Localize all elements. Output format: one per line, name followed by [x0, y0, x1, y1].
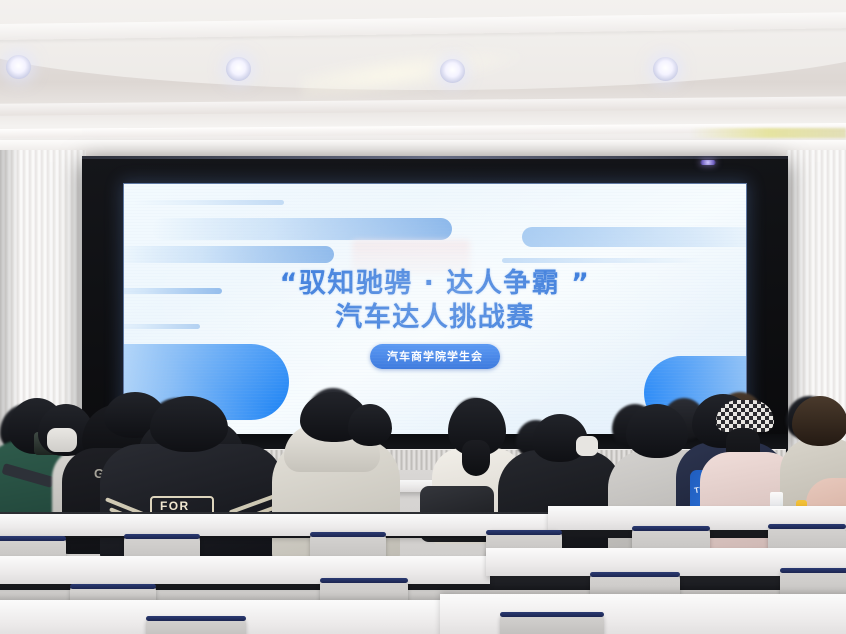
chair-trim [486, 530, 562, 535]
lecture-hall-photo: “驭知驰骋 · 达人争霸 ” 汽车达人挑战赛 汽车商学院学生会 组名 组名 组名… [0, 0, 846, 634]
chair-trim [310, 532, 386, 537]
chair-trim [320, 578, 408, 583]
screen-indicator-light [700, 160, 716, 165]
bezel-highlight [82, 156, 788, 159]
presentation-screen[interactable]: “驭知驰骋 · 达人争霸 ” 汽车达人挑战赛 汽车商学院学生会 [124, 184, 746, 434]
downlight-2 [226, 57, 251, 81]
downlight-1 [6, 55, 31, 79]
screen-title-line-2: 汽车达人挑战赛 [124, 302, 746, 334]
warm-light-strip [690, 128, 846, 138]
downlight-4 [653, 57, 678, 81]
wall-top-trim [0, 140, 846, 156]
screen-title-block: “驭知驰骋 · 达人争霸 ” 汽车达人挑战赛 [124, 268, 746, 334]
speed-line-1 [152, 218, 452, 240]
chair-trim [632, 526, 710, 531]
speed-line-right-2 [502, 258, 702, 263]
chair-trim [70, 584, 156, 589]
speed-line-5 [134, 200, 284, 205]
desk-row-3 [0, 556, 490, 584]
chair-trim [590, 572, 680, 577]
speed-line-2 [124, 246, 334, 263]
jacket-text-for: FOR [160, 499, 190, 513]
ponytail [462, 440, 490, 476]
face-mask [576, 436, 598, 456]
chair-trim [768, 524, 846, 529]
screen-title-line-1: “驭知驰骋 · 达人争霸 ” [124, 268, 746, 300]
person-head [792, 396, 846, 446]
downlight-3 [440, 59, 465, 83]
speed-line-right-1 [522, 227, 746, 247]
chair-trim [780, 568, 846, 573]
organizer-badge: 汽车商学院学生会 [370, 344, 500, 369]
chair-trim [146, 616, 246, 621]
chair-trim [0, 536, 66, 541]
desk-row-2 [0, 514, 550, 536]
chair-trim [500, 612, 604, 617]
person-head [626, 404, 688, 458]
face-mask [47, 428, 77, 452]
person-head [150, 396, 228, 452]
person-head [348, 404, 392, 446]
chair-trim [124, 534, 200, 539]
